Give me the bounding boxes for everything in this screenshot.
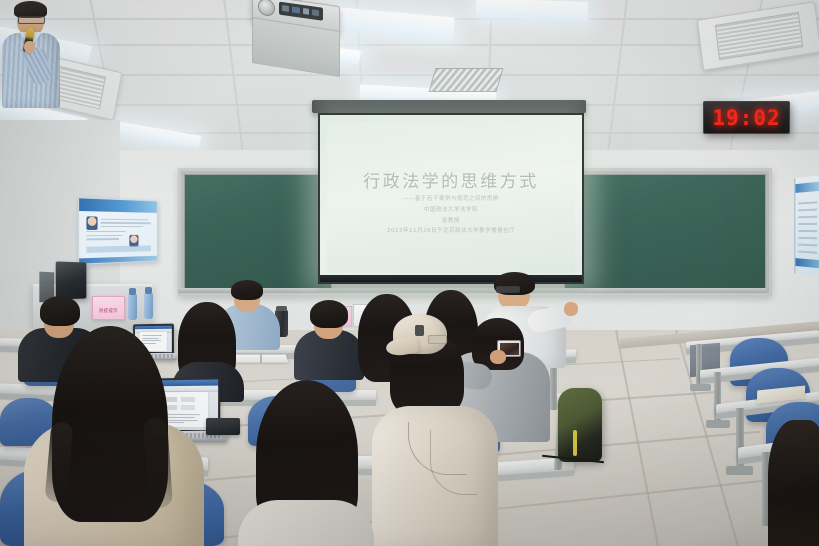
board-footer-band — [796, 258, 819, 268]
clock-time-display: 19:02 — [712, 106, 780, 130]
slide-subtitle-3: 张教授 — [327, 216, 575, 224]
glasses-icon — [496, 286, 520, 293]
poster-header-band — [79, 198, 157, 213]
poster-illustration-figure — [87, 217, 98, 231]
slide-subtitle-2: 中国政法大学法学院 — [327, 205, 575, 213]
external-power-bank — [206, 418, 240, 435]
student-edge-right-hair — [768, 420, 819, 546]
projector-port-panel — [279, 2, 323, 21]
olive-backpack-on-floor — [558, 388, 602, 462]
poster-illustration-figure — [129, 235, 138, 247]
slide-subtitle-1: ——基于若干案例与规范之间的思辨 — [327, 194, 575, 202]
student-hair — [231, 280, 263, 300]
book-spine — [260, 355, 262, 363]
cap-logo-icon — [415, 325, 424, 336]
ac-grille — [715, 12, 803, 61]
desk-leg-foot — [690, 384, 711, 391]
slide-title: 行政法学的思维方式 — [327, 167, 575, 192]
digital-wall-clock: 19:02 — [703, 101, 790, 134]
sanitizer-bottle — [128, 294, 137, 320]
ceiling-light-panel — [476, 0, 588, 22]
chalkboard-panel-right — [564, 174, 766, 290]
desk-leg-foot — [726, 466, 753, 475]
poster-highlight-band — [86, 245, 151, 253]
glasses-icon — [18, 16, 45, 24]
student-with-baseball-cap — [386, 314, 502, 546]
lecturer-hand — [24, 41, 35, 53]
board-header-band — [796, 182, 819, 193]
desk-leg-foot — [706, 420, 730, 428]
classroom-photo-scene: 行政法学的思维方式 ——基于若干案例与规范之间的思辨 中国政法大学法学院 张教授… — [0, 0, 819, 546]
projection-screen-housing — [312, 100, 586, 113]
student-front-right-long-hair — [238, 380, 374, 546]
lectern-monitor — [56, 261, 87, 299]
backpack-body — [558, 388, 602, 462]
student-hair — [40, 296, 80, 326]
chalkboard-panel-left — [184, 174, 332, 290]
slide-subtitle-4: 2023年11月28日于北京政法大学教学楼报告厅 — [327, 226, 575, 234]
wall-notice-poster-left — [78, 197, 158, 265]
projected-slide: 行政法学的思维方式 ——基于若干案例与规范之间的思辨 中国政法大学法学院 张教授… — [327, 122, 575, 273]
student-mid-row-center — [294, 300, 364, 376]
student-edge-right-mid — [770, 300, 819, 360]
student-hair-long — [768, 420, 819, 546]
student-hair — [310, 300, 348, 328]
sanitizer-bottle — [144, 293, 153, 319]
projector-lens — [258, 0, 275, 17]
open-textbook — [234, 355, 288, 363]
ceiling-air-diffuser — [429, 68, 504, 92]
student-front-long-hair-beige-jacket — [24, 326, 204, 546]
student-hand — [564, 302, 578, 316]
cap-adjuster-strap — [428, 335, 447, 344]
projection-screen[interactable]: 行政法学的思维方式 ——基于若干案例与规范之间的思辨 中国政法大学法学院 张教授… — [318, 113, 584, 284]
student-torso — [238, 500, 374, 546]
backpack-yellow-strap — [573, 430, 577, 456]
wall-notice-board-right — [794, 175, 819, 276]
